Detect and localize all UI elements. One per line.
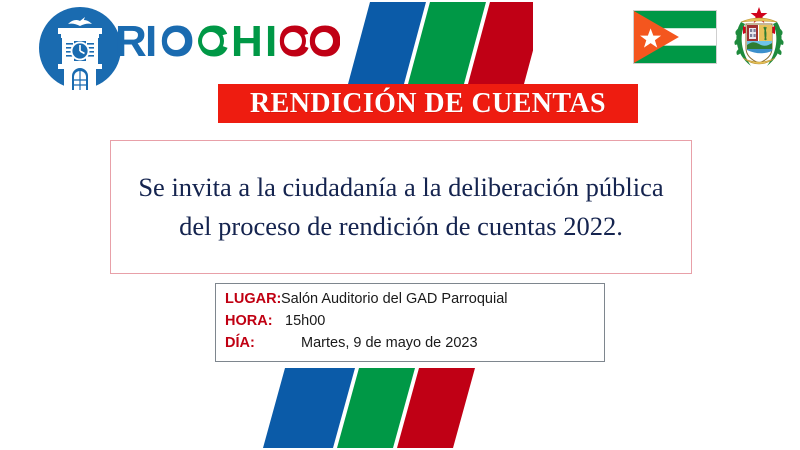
invitation-text: Se invita a la ciudadanía a la deliberac… bbox=[123, 168, 679, 245]
banner-title-text: RENDICIÓN DE CUENTAS bbox=[250, 88, 606, 120]
header-decor-bars bbox=[348, 2, 533, 84]
detail-label-lugar: LUGAR: bbox=[225, 291, 277, 307]
riochico-wordmark: R I O C H I C O bbox=[115, 14, 340, 70]
detail-row-dia: DÍA: Martes, 9 de mayo de 2023 bbox=[225, 335, 604, 357]
detail-row-hora: HORA: 15h00 bbox=[225, 313, 604, 335]
event-details-box: LUGAR: Salón Auditorio del GAD Parroquia… bbox=[215, 283, 605, 362]
footer-decor-bars bbox=[263, 368, 491, 448]
header-area: R I O C H I C O bbox=[0, 0, 800, 88]
detail-row-lugar: LUGAR: Salón Auditorio del GAD Parroquia… bbox=[225, 291, 604, 313]
svg-text:I: I bbox=[145, 17, 156, 66]
manabi-coat-of-arms-icon bbox=[731, 6, 787, 72]
detail-value-hora: 15h00 bbox=[277, 313, 325, 329]
detail-label-dia: DÍA: bbox=[225, 335, 277, 351]
clock-tower-emblem-icon bbox=[38, 6, 122, 90]
svg-text:R: R bbox=[115, 17, 146, 66]
poster-canvas: R I O C H I C O bbox=[0, 0, 800, 450]
detail-value-dia: Martes, 9 de mayo de 2023 bbox=[277, 335, 478, 351]
invitation-box: Se invita a la ciudadanía a la deliberac… bbox=[110, 140, 692, 274]
detail-label-hora: HORA: bbox=[225, 313, 277, 329]
svg-text:H: H bbox=[231, 17, 262, 66]
detail-value-lugar: Salón Auditorio del GAD Parroquial bbox=[277, 291, 508, 307]
svg-text:I: I bbox=[265, 17, 276, 66]
manabi-province-flag-icon bbox=[633, 10, 717, 64]
title-banner: RENDICIÓN DE CUENTAS bbox=[218, 84, 638, 123]
